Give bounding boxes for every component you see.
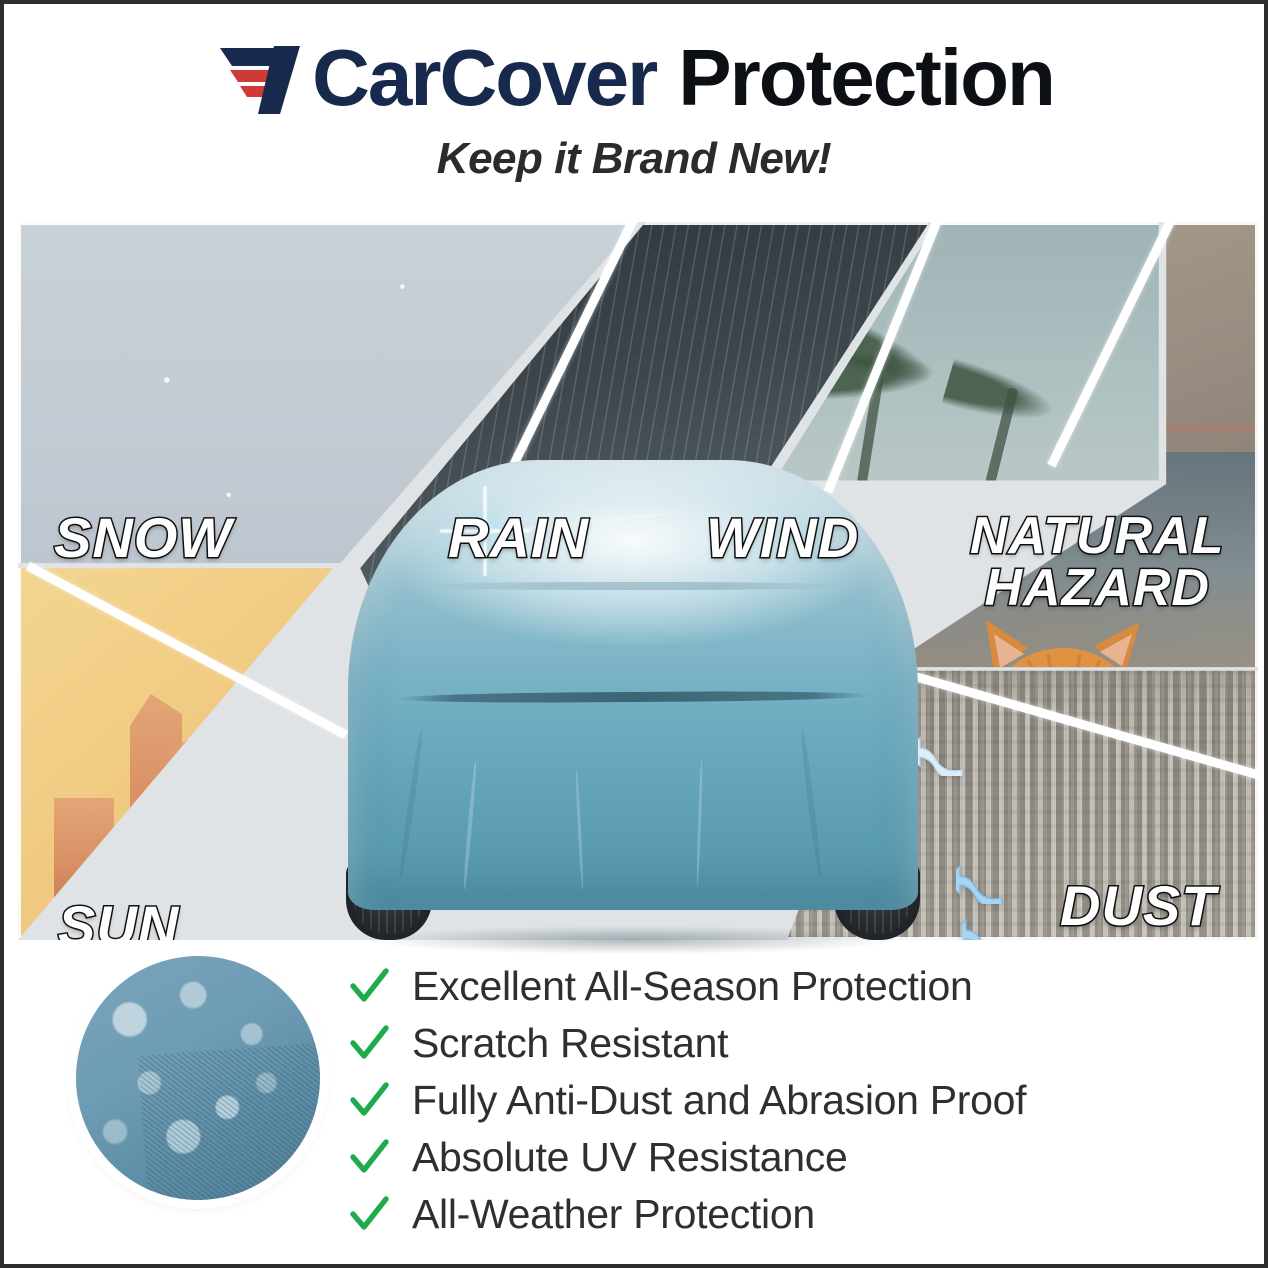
tagline: Keep it Brand New!: [4, 134, 1264, 184]
benefit-label: All-Weather Protection: [412, 1191, 815, 1238]
fabric-crease: [462, 760, 477, 890]
curved-deflect-arrow-icon: [956, 858, 1008, 904]
benefits-list: Excellent All-Season Protection Scratch …: [348, 958, 1178, 1243]
brand-suffix: Protection: [678, 40, 1054, 116]
green-checkmark-icon: [348, 1080, 390, 1122]
benefit-label: Absolute UV Resistance: [412, 1134, 848, 1181]
curved-deflect-arrow-icon: [962, 912, 1014, 940]
green-checkmark-icon: [348, 1194, 390, 1236]
fabric-crease: [398, 730, 425, 879]
panel-label-natural-hazard: NATURAL HAZARD: [970, 510, 1224, 614]
benefit-item: Excellent All-Season Protection: [348, 958, 1178, 1015]
benefit-item: Fully Anti-Dust and Abrasion Proof: [348, 1072, 1178, 1129]
hood-seam: [396, 690, 870, 703]
header: CarCover Protection Keep it Brand New!: [4, 32, 1264, 184]
car-ground-shadow: [370, 926, 896, 954]
fabric-crease: [696, 760, 703, 886]
benefit-label: Excellent All-Season Protection: [412, 963, 972, 1010]
fabric-crease: [575, 770, 584, 890]
benefit-label: Scratch Resistant: [412, 1020, 728, 1067]
rock-formation: [168, 730, 238, 900]
carcover-wing-logo-icon: [214, 42, 310, 118]
windshield-seam: [418, 582, 848, 590]
panel-label-dust: DUST: [1060, 878, 1216, 934]
benefit-item: All-Weather Protection: [348, 1186, 1178, 1243]
green-checkmark-icon: [348, 966, 390, 1008]
green-checkmark-icon: [348, 1023, 390, 1065]
panel-label-wind: WIND: [706, 510, 859, 566]
benefit-item: Scratch Resistant: [348, 1015, 1178, 1072]
panel-label-sun: SUN: [58, 898, 179, 940]
rock-formation: [224, 782, 290, 922]
water-beading-fabric-closeup: [76, 956, 320, 1200]
benefit-label: Fully Anti-Dust and Abrasion Proof: [412, 1077, 1026, 1124]
fabric-crease: [799, 728, 823, 878]
brand-lockup: CarCover Protection: [4, 32, 1264, 124]
brand-name: CarCover: [312, 40, 656, 116]
panel-label-snow: SNOW: [54, 510, 232, 566]
product-infographic: CarCover Protection Keep it Brand New! ❄: [0, 0, 1268, 1268]
benefits-section: Excellent All-Season Protection Scratch …: [4, 948, 1264, 1248]
benefit-item: Absolute UV Resistance: [348, 1129, 1178, 1186]
panel-label-rain: RAIN: [448, 510, 589, 566]
green-checkmark-icon: [348, 1137, 390, 1179]
